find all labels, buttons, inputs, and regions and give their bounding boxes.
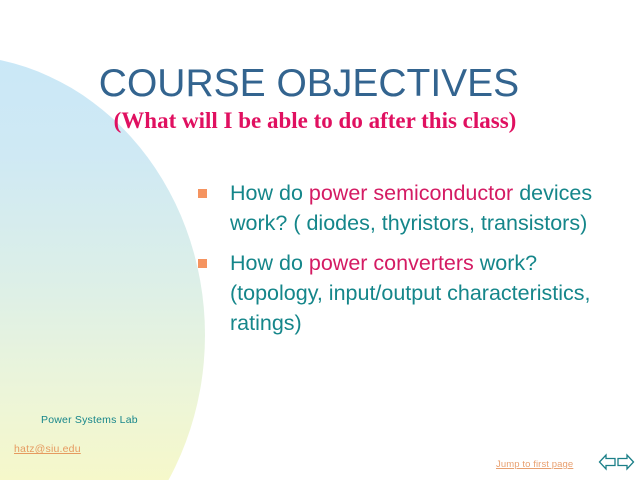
page-title: COURSE OBJECTIVES bbox=[0, 62, 640, 106]
email-link[interactable]: hatz@siu.edu bbox=[14, 443, 81, 455]
list-item: How do power semiconductor devices work?… bbox=[196, 178, 624, 238]
square-bullet-icon bbox=[198, 259, 207, 268]
bullet-text-segment: How do bbox=[230, 251, 309, 275]
jump-to-first-page-link[interactable]: Jump to first page bbox=[496, 459, 573, 470]
bullet-list: How do power semiconductor devices work?… bbox=[196, 178, 624, 348]
arrow-left-icon[interactable] bbox=[598, 450, 617, 474]
lab-name-label: Power Systems Lab bbox=[41, 414, 138, 426]
bullet-text-highlight: power semiconductor bbox=[309, 181, 513, 205]
navigation-arrows bbox=[598, 450, 636, 474]
bullet-text-segment: How do bbox=[230, 181, 309, 205]
title-block: COURSE OBJECTIVES (What will I be able t… bbox=[0, 62, 640, 134]
list-item: How do power converters work? (topology,… bbox=[196, 248, 624, 338]
page-subtitle: (What will I be able to do after this cl… bbox=[0, 106, 640, 134]
square-bullet-icon bbox=[198, 189, 207, 198]
arrow-right-icon[interactable] bbox=[616, 450, 635, 474]
bullet-text-highlight: power converters bbox=[309, 251, 474, 275]
